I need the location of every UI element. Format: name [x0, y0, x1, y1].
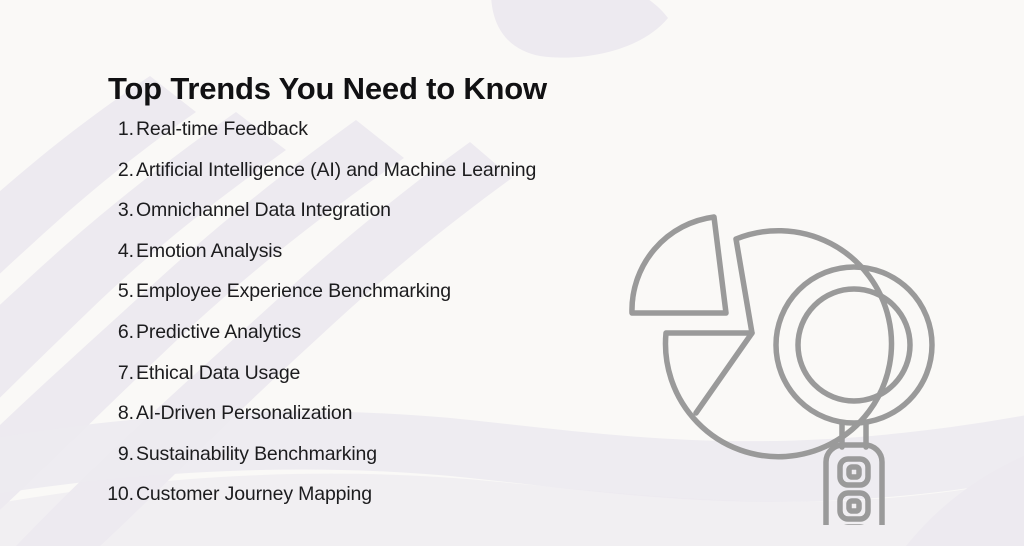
list-item-label: Artificial Intelligence (AI) and Machine…	[134, 159, 536, 182]
list-item-label: Omnichannel Data Integration	[134, 199, 391, 222]
list-item-number: 10.	[104, 483, 134, 506]
exploded-pie-slice	[632, 217, 726, 313]
page-title: Top Trends You Need to Know	[108, 71, 547, 107]
list-item-number: 7.	[104, 362, 134, 385]
list-item-label: Predictive Analytics	[134, 321, 301, 344]
list-item-label: Customer Journey Mapping	[134, 483, 372, 506]
grip-button-2	[840, 493, 868, 519]
content-layer: Top Trends You Need to Know 1. Real-time…	[0, 0, 1024, 546]
pie-chart-magnifier-illustration	[618, 205, 938, 525]
grip-button-2-inner-dot	[849, 501, 859, 511]
slide-canvas: Top Trends You Need to Know 1. Real-time…	[0, 0, 1024, 546]
pie-slice-divider	[696, 333, 752, 413]
list-item: 2. Artificial Intelligence (AI) and Mach…	[104, 159, 724, 200]
list-item-number: 6.	[104, 321, 134, 344]
list-item-label: Sustainability Benchmarking	[134, 443, 377, 466]
list-item-number: 3.	[104, 199, 134, 222]
list-item-number: 4.	[104, 240, 134, 263]
grip-button-1-inner-dot	[849, 467, 859, 477]
list-item-number: 5.	[104, 280, 134, 303]
list-item-label: Employee Experience Benchmarking	[134, 280, 451, 303]
list-item: 1. Real-time Feedback	[104, 118, 724, 159]
list-item-label: AI-Driven Personalization	[134, 402, 352, 425]
list-item-number: 9.	[104, 443, 134, 466]
grip-button-1	[840, 459, 868, 485]
list-item-label: Real-time Feedback	[134, 118, 308, 141]
list-item-number: 2.	[104, 159, 134, 182]
list-item-label: Ethical Data Usage	[134, 362, 300, 385]
list-item-number: 8.	[104, 402, 134, 425]
list-item-label: Emotion Analysis	[134, 240, 282, 263]
list-item-number: 1.	[104, 118, 134, 141]
